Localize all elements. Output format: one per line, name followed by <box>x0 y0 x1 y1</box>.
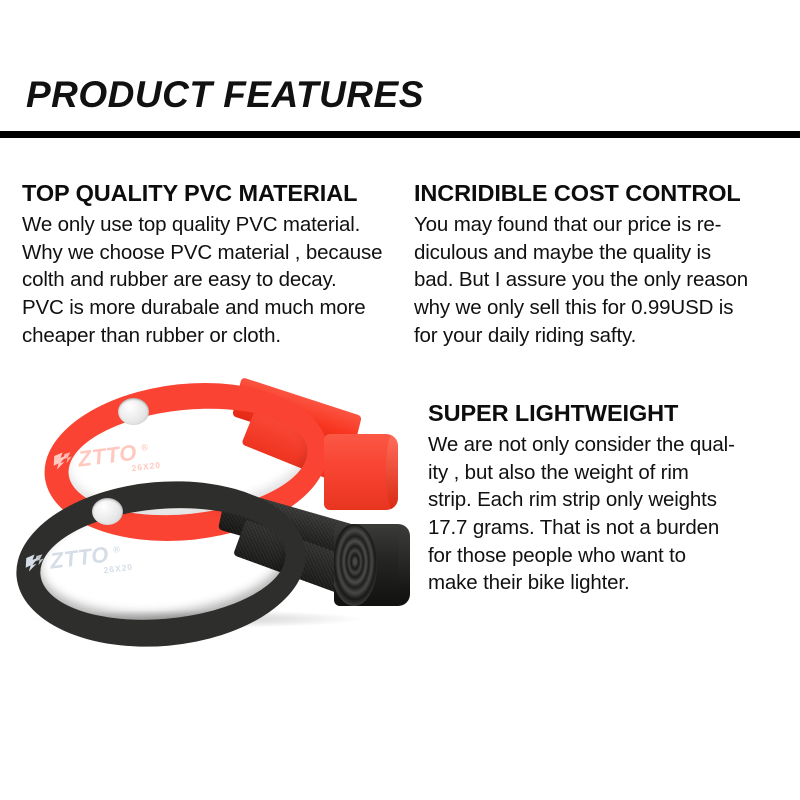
product-features-page: PRODUCT FEATURES TOP QUALITY PVC MATERIA… <box>0 0 800 800</box>
rim-strip-black-coil <box>334 524 410 606</box>
rim-strip-red-coil <box>324 434 398 510</box>
feature-body-lightweight: We are not only consider the qual- ity ,… <box>428 431 790 596</box>
feature-body-line: make their bike lighter. <box>428 569 790 597</box>
product-photo-stage: ZTTO ® 26X20 <box>8 378 426 640</box>
page-title: PRODUCT FEATURES <box>26 76 424 113</box>
coil-spiral-face <box>324 434 367 510</box>
feature-body-pvc: We only use top quality PVC material. Wh… <box>22 211 414 349</box>
coil-outer-edge <box>398 524 410 606</box>
coil-spiral-face <box>334 524 377 606</box>
page-header: PRODUCT FEATURES <box>0 0 800 140</box>
valve-hole-black <box>92 498 123 525</box>
coil-outer-edge <box>386 434 398 510</box>
feature-heading-pvc: TOP QUALITY PVC MATERIAL <box>22 180 414 206</box>
feature-body-line: bad. But I assure you the only reason <box>414 266 790 294</box>
feature-body-line: You may found that our price is re- <box>414 211 790 239</box>
feature-body-line: colth and rubber are easy to decay. <box>22 266 414 294</box>
feature-body-line: PVC is more durabale and much more <box>22 294 414 322</box>
feature-body-line: strip. Each rim strip only weights <box>428 486 790 514</box>
feature-block-pvc: TOP QUALITY PVC MATERIAL We only use top… <box>22 180 414 349</box>
feature-body-line: diculous and maybe the quality is <box>414 239 790 267</box>
feature-body-line: for those people who want to <box>428 542 790 570</box>
feature-body-line: We are not only consider the qual- <box>428 431 790 459</box>
feature-body-line: why we only sell this for 0.99USD is <box>414 294 790 322</box>
feature-body-line: ity , but also the weight of rim <box>428 459 790 487</box>
feature-body-line: We only use top quality PVC material. <box>22 211 414 239</box>
feature-heading-lightweight: SUPER LIGHTWEIGHT <box>428 400 790 426</box>
feature-block-lightweight: SUPER LIGHTWEIGHT We are not only consid… <box>428 400 790 597</box>
title-divider <box>0 131 800 138</box>
product-photo-rim-strips: ZTTO ® 26X20 <box>8 378 426 640</box>
feature-body-line: 17.7 grams. That is not a burden <box>428 514 790 542</box>
feature-body-line: cheaper than rubber or cloth. <box>22 322 414 350</box>
feature-heading-cost-control: INCRIDIBLE COST CONTROL <box>414 180 790 206</box>
valve-hole-red <box>118 398 149 425</box>
feature-body-line: for your daily riding safty. <box>414 322 790 350</box>
feature-block-cost-control: INCRIDIBLE COST CONTROL You may found th… <box>414 180 790 349</box>
feature-body-line: Why we choose PVC material , because <box>22 239 414 267</box>
feature-body-cost-control: You may found that our price is re- dicu… <box>414 211 790 349</box>
